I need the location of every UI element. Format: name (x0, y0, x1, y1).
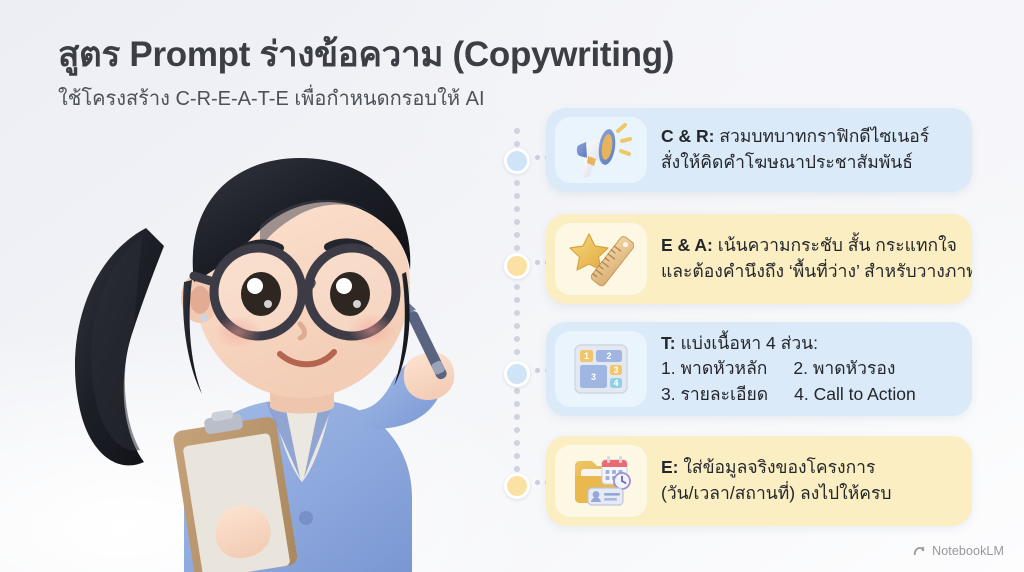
connector-dot (535, 480, 540, 485)
megaphone-icon (568, 117, 634, 183)
card-3-item-4: 4. Call to Action (794, 382, 916, 408)
card-3-line-1: T: แบ่งเนื้อหา 4 ส่วน: (661, 331, 958, 357)
card-4-line-2: (วัน/เวลา/สถานที่) ลงไปให้ครบ (661, 481, 958, 507)
clock-sub-icon (614, 473, 630, 489)
rail-dot (514, 401, 520, 407)
watermark-label: NotebookLM (932, 544, 1004, 558)
infographic-slide: สูตร Prompt ร่างข้อความ (Copywriting) ใช… (0, 0, 1024, 572)
svg-text:3: 3 (591, 372, 596, 382)
card-1-line-2: สั่งให้คิดคำโฆษณาประชาสัมพันธ์ (661, 150, 958, 176)
earring (200, 314, 208, 322)
rail-dot (514, 336, 520, 342)
card-3-text: T: แบ่งเนื้อหา 4 ส่วน: 1. พาดหัวหลัก2. พ… (647, 322, 972, 416)
layout-grid-icon: 1 2 3 3 4 (568, 336, 634, 402)
rail-dot (514, 440, 520, 446)
card-e-and-a[interactable]: E & A: เน้นความกระชับ สั้น กระแทกใจ และต… (546, 214, 972, 304)
card-3-icon-tile: 1 2 3 3 4 (555, 331, 647, 407)
card-c-and-r[interactable]: C & R: สวมบทบาทกราฟิกดีไซเนอร์ สั่งให้คิ… (546, 108, 972, 192)
card-1-line-1: C & R: สวมบทบาทกราฟิกดีไซเนอร์ (661, 124, 958, 150)
card-1-text: C & R: สวมบทบาทกราฟิกดีไซเนอร์ สั่งให้คิ… (647, 108, 972, 192)
card-4-line-1-rest: ใส่ข้อมูลจริงของโครงการ (679, 457, 876, 477)
contact-card-sub-icon (588, 488, 623, 505)
rail-dot (514, 466, 520, 472)
card-2-line-1: E & A: เน้นความกระชับ สั้น กระแทกใจ (661, 233, 972, 259)
rail-dot (514, 245, 520, 251)
connector-dot (535, 155, 540, 160)
card-1-icon-tile (555, 117, 647, 183)
rail-dot (514, 193, 520, 199)
timeline-node-3[interactable] (504, 361, 530, 387)
star-and-ruler-icon (568, 226, 634, 292)
page-title: สูตร Prompt ร่างข้อความ (Copywriting) (58, 34, 578, 75)
character-illustration (34, 110, 464, 572)
rail-dot (514, 219, 520, 225)
rail-dot (514, 128, 520, 134)
card-e[interactable]: E: ใส่ข้อมูลจริงของโครงการ (วัน/เวลา/สถา… (546, 436, 972, 526)
card-3-lead: T: (661, 333, 676, 353)
card-2-lead: E & A: (661, 235, 713, 255)
card-t[interactable]: 1 2 3 3 4 T: แบ่งเนื้อหา 4 ส่วน: 1. พาดห… (546, 322, 972, 416)
notebooklm-watermark: NotebookLM (912, 544, 1004, 558)
card-3-line-2: 1. พาดหัวหลัก2. พาดหัวรอง (661, 356, 958, 382)
timeline-rail (513, 128, 521, 488)
timeline-node-4[interactable] (504, 473, 530, 499)
timeline-node-2[interactable] (504, 253, 530, 279)
rail-dot (514, 206, 520, 212)
svg-text:2: 2 (606, 351, 611, 361)
rail-dot (514, 232, 520, 238)
rail-dot (514, 414, 520, 420)
rail-dot (514, 284, 520, 290)
rail-dot (514, 297, 520, 303)
card-1-line-1-rest: สวมบทบาทกราฟิกดีไซเนอร์ (714, 126, 929, 146)
svg-text:4: 4 (613, 378, 618, 388)
svg-text:3: 3 (613, 365, 618, 375)
svg-text:1: 1 (584, 351, 589, 361)
card-2-text: E & A: เน้นความกระชับ สั้น กระแทกใจ และต… (647, 214, 972, 304)
card-1-lead: C & R: (661, 126, 714, 146)
timeline-node-1[interactable] (504, 148, 530, 174)
card-2-line-2: และต้องคำนึงถึง ‘พื้นที่ว่าง’ สำหรับวางภ… (661, 259, 972, 285)
connector-dot (535, 260, 540, 265)
card-4-lead: E: (661, 457, 679, 477)
card-4-text: E: ใส่ข้อมูลจริงของโครงการ (วัน/เวลา/สถา… (647, 436, 972, 526)
rail-dot (514, 427, 520, 433)
card-3-item-2: 2. พาดหัวรอง (793, 356, 895, 382)
folder-calendar-contact-icon (568, 448, 634, 514)
card-4-line-1: E: ใส่ข้อมูลจริงของโครงการ (661, 455, 958, 481)
rail-dot (514, 323, 520, 329)
rail-dot (514, 388, 520, 394)
rail-dot (514, 453, 520, 459)
card-2-line-1-rest: เน้นความกระชับ สั้น กระแทกใจ (713, 235, 957, 255)
rail-dot (514, 180, 520, 186)
rail-dot (514, 349, 520, 355)
header: สูตร Prompt ร่างข้อความ (Copywriting) ใช… (58, 34, 578, 113)
card-3-line-1-rest: แบ่งเนื้อหา 4 ส่วน: (676, 333, 818, 353)
card-3-item-3: 3. รายละเอียด (661, 384, 768, 404)
notebooklm-spark-icon (912, 544, 926, 558)
rail-dot (514, 141, 520, 147)
connector-dot (535, 368, 540, 373)
card-2-icon-tile (555, 223, 647, 295)
rail-dot (514, 310, 520, 316)
card-3-line-3: 3. รายละเอียด4. Call to Action (661, 382, 958, 408)
card-4-icon-tile (555, 445, 647, 517)
card-3-item-1: 1. พาดหัวหลัก (661, 358, 767, 378)
